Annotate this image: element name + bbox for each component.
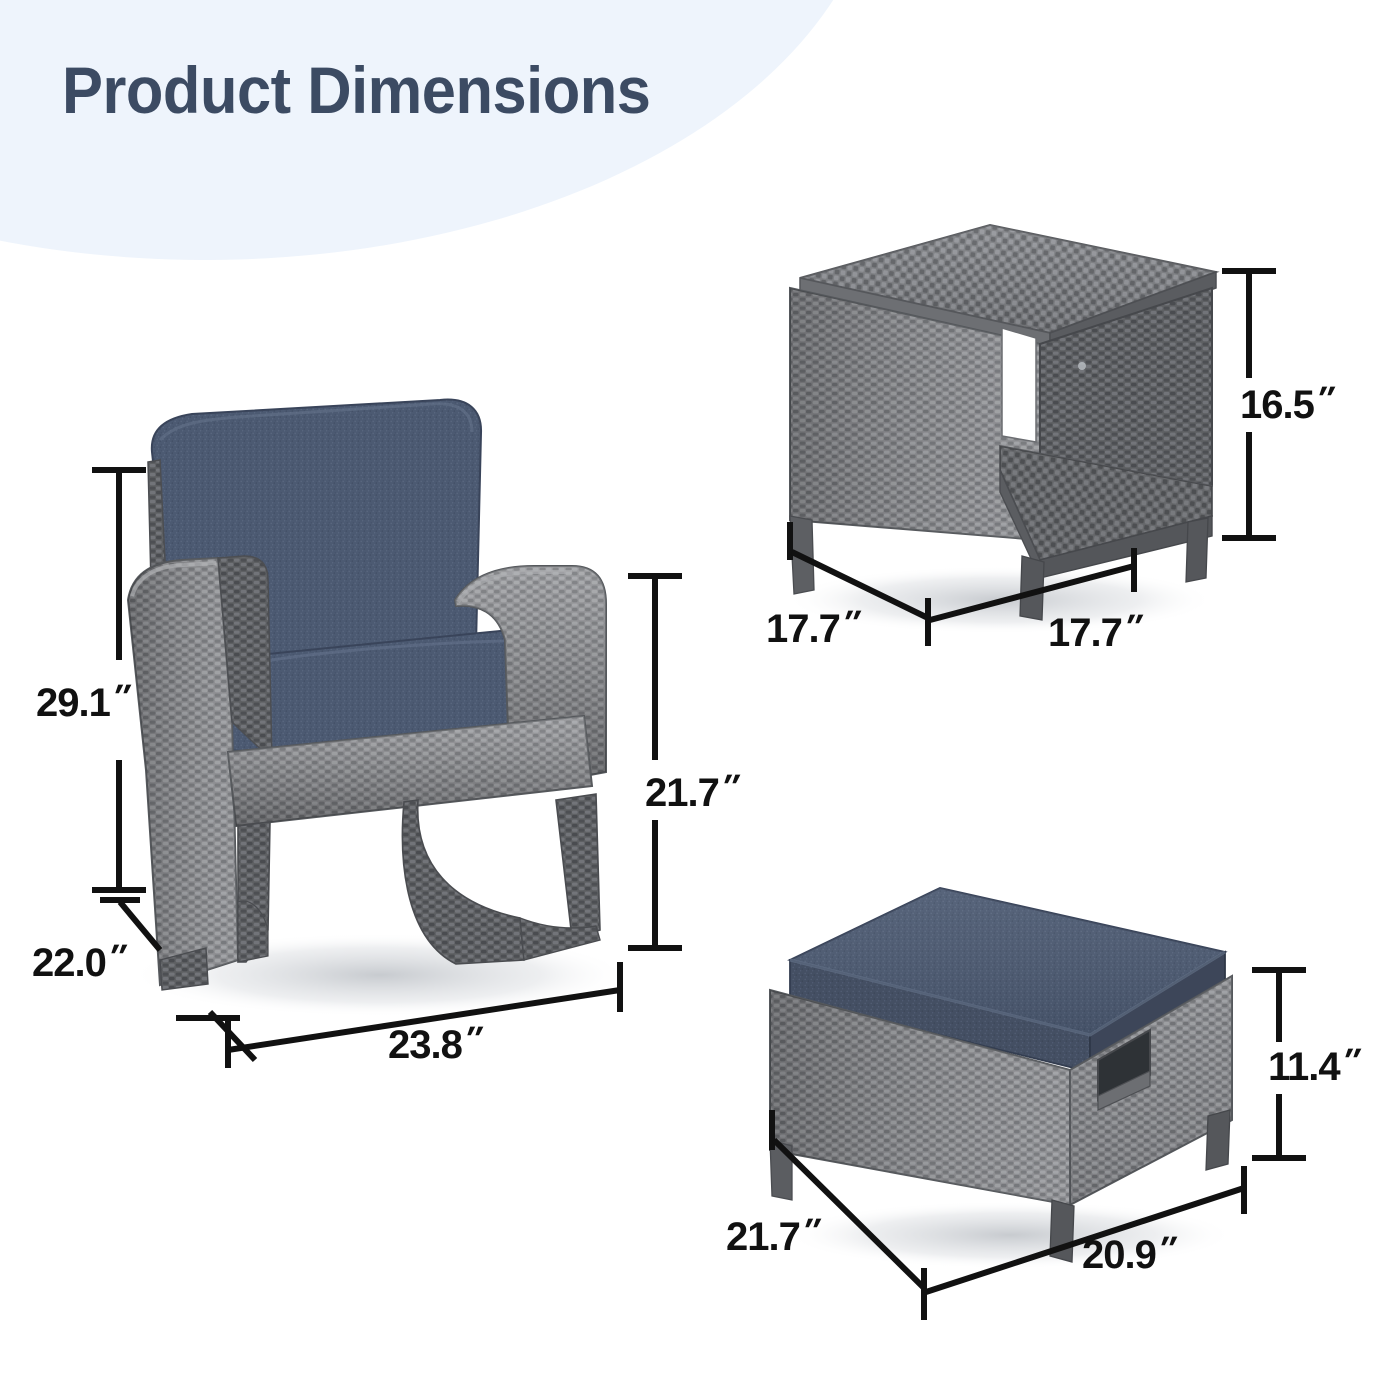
dimension-label-chair-width: 23.8″ [388, 1020, 480, 1068]
page-title: Product Dimensions [62, 52, 650, 128]
dimension-label-chair-seatback: 21.7″ [645, 768, 737, 816]
product-illustrations [0, 0, 1400, 1400]
dimension-label-chair-depth: 22.0″ [32, 938, 124, 986]
dimension-label-ottoman-height: 11.4″ [1268, 1042, 1358, 1090]
infographic-canvas: Product Dimensions [0, 0, 1400, 1400]
chair-illustration [128, 400, 630, 1017]
dimension-label-ottoman-width: 20.9″ [1082, 1230, 1174, 1278]
side-table-illustration [785, 225, 1216, 634]
chair-leg-right [520, 794, 600, 960]
dimension-label-table-width: 17.7″ [1048, 608, 1140, 656]
ottoman-illustration [770, 888, 1235, 1269]
dimension-label-table-height: 16.5″ [1240, 380, 1332, 428]
chair-leg-left [238, 822, 270, 962]
dimension-label-ottoman-depth: 21.7″ [726, 1212, 818, 1260]
dimension-label-chair-height: 29.1″ [36, 678, 128, 726]
dimension-label-table-depth: 17.7″ [766, 604, 858, 652]
